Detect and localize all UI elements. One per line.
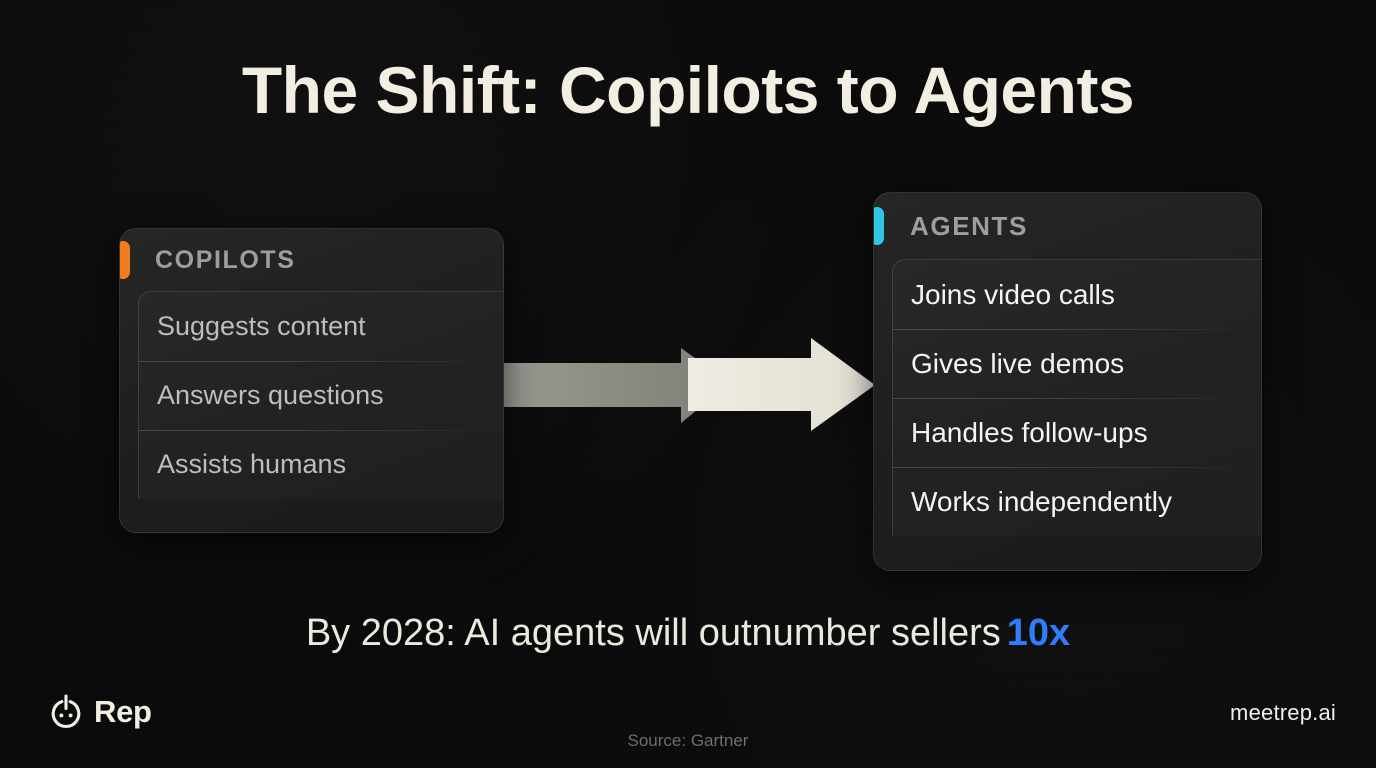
list-item-label: Assists humans bbox=[157, 449, 346, 480]
list-item-label: Gives live demos bbox=[911, 348, 1124, 380]
arrow-right-icon bbox=[498, 330, 888, 440]
arrow-front-shape bbox=[688, 338, 875, 431]
list-item: Gives live demos bbox=[893, 329, 1261, 398]
transition-arrows bbox=[498, 330, 888, 440]
stat-multiplier: 10x bbox=[1007, 612, 1070, 654]
agents-list: Joins video calls Gives live demos Handl… bbox=[892, 259, 1261, 536]
list-item: Assists humans bbox=[139, 430, 503, 499]
list-item-label: Joins video calls bbox=[911, 279, 1115, 311]
agents-card-header: AGENTS bbox=[874, 193, 1261, 259]
page-title: The Shift: Copilots to Agents bbox=[0, 56, 1376, 125]
list-item-label: Works independently bbox=[911, 486, 1172, 518]
accent-bar-icon-copilots bbox=[119, 241, 130, 279]
list-item: Joins video calls bbox=[893, 260, 1261, 329]
list-item-label: Handles follow-ups bbox=[911, 417, 1148, 449]
website-url: meetrep.ai bbox=[1230, 700, 1336, 726]
brand-lockup: Rep bbox=[47, 692, 152, 732]
rep-robot-logo-icon bbox=[47, 692, 85, 732]
list-item-label: Answers questions bbox=[157, 380, 384, 411]
stat-caption-text: By 2028: AI agents will outnumber seller… bbox=[306, 612, 1001, 654]
list-item: Works independently bbox=[893, 467, 1261, 536]
list-item: Handles follow-ups bbox=[893, 398, 1261, 467]
list-item: Answers questions bbox=[139, 361, 503, 430]
slide-canvas: The Shift: Copilots to Agents COPILOTS S… bbox=[0, 0, 1376, 768]
copilots-list: Suggests content Answers questions Assis… bbox=[138, 291, 503, 499]
source-note: Source: Gartner bbox=[0, 731, 1376, 751]
brand-name: Rep bbox=[94, 694, 152, 730]
list-item: Suggests content bbox=[139, 292, 503, 361]
accent-bar-icon-agents bbox=[873, 207, 884, 245]
agents-card: AGENTS Joins video calls Gives live demo… bbox=[873, 192, 1262, 571]
agents-card-title: AGENTS bbox=[910, 211, 1028, 242]
stat-caption: By 2028: AI agents will outnumber seller… bbox=[0, 612, 1376, 655]
list-item-label: Suggests content bbox=[157, 311, 366, 342]
copilots-card-title: COPILOTS bbox=[155, 246, 296, 275]
copilots-card: COPILOTS Suggests content Answers questi… bbox=[119, 228, 504, 533]
copilots-card-header: COPILOTS bbox=[120, 229, 503, 291]
